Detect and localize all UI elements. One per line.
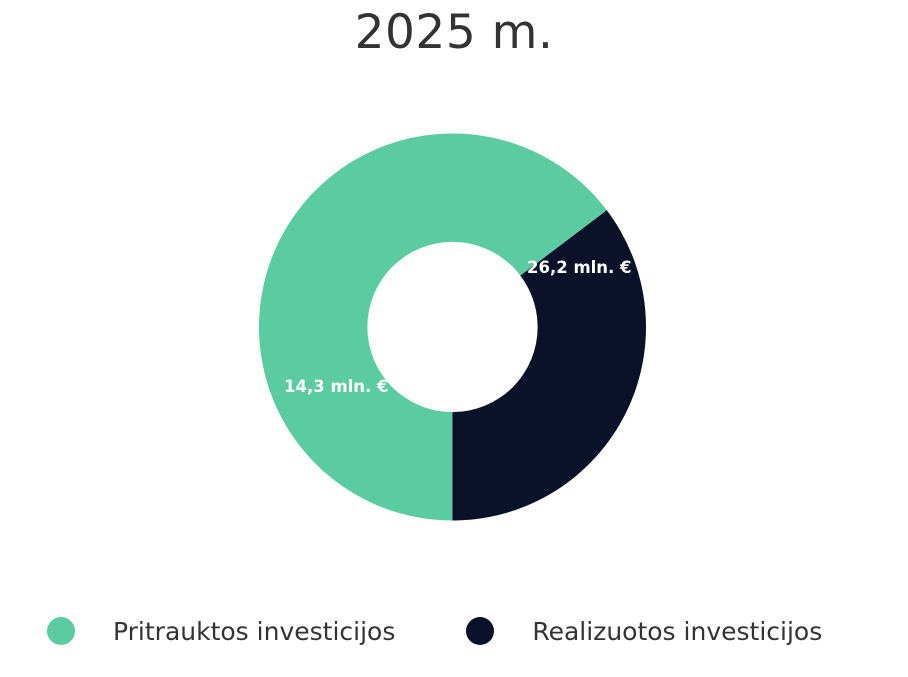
slice-value-label-navy: 14,3 mln. € bbox=[284, 377, 389, 396]
donut-svg: 26,2 mln. € 14,3 mln. € bbox=[0, 95, 908, 565]
slice-value-label-green: 26,2 mln. € bbox=[527, 258, 632, 277]
donut-chart-figure: 2025 m. 26,2 mln. € 14,3 mln. € Pritrauk… bbox=[0, 0, 908, 677]
legend-label-realizuotos-investicijos: Realizuotos investicijos bbox=[532, 619, 822, 644]
chart-title: 2025 m. bbox=[0, 6, 908, 60]
circle-marker-icon-green bbox=[47, 617, 75, 645]
legend-item-pritrauktos-investicijos[interactable]: Pritrauktos investicijos bbox=[47, 596, 395, 666]
donut-plot-area: 26,2 mln. € 14,3 mln. € bbox=[0, 95, 908, 565]
donut-center-hole bbox=[367, 242, 537, 412]
chart-legend: Pritrauktos investicijos Realizuotos inv… bbox=[0, 596, 908, 666]
legend-item-realizuotos-investicijos[interactable]: Realizuotos investicijos bbox=[466, 596, 822, 666]
circle-marker-icon-navy bbox=[466, 617, 494, 645]
legend-label-pritrauktos-investicijos: Pritrauktos investicijos bbox=[113, 619, 395, 644]
